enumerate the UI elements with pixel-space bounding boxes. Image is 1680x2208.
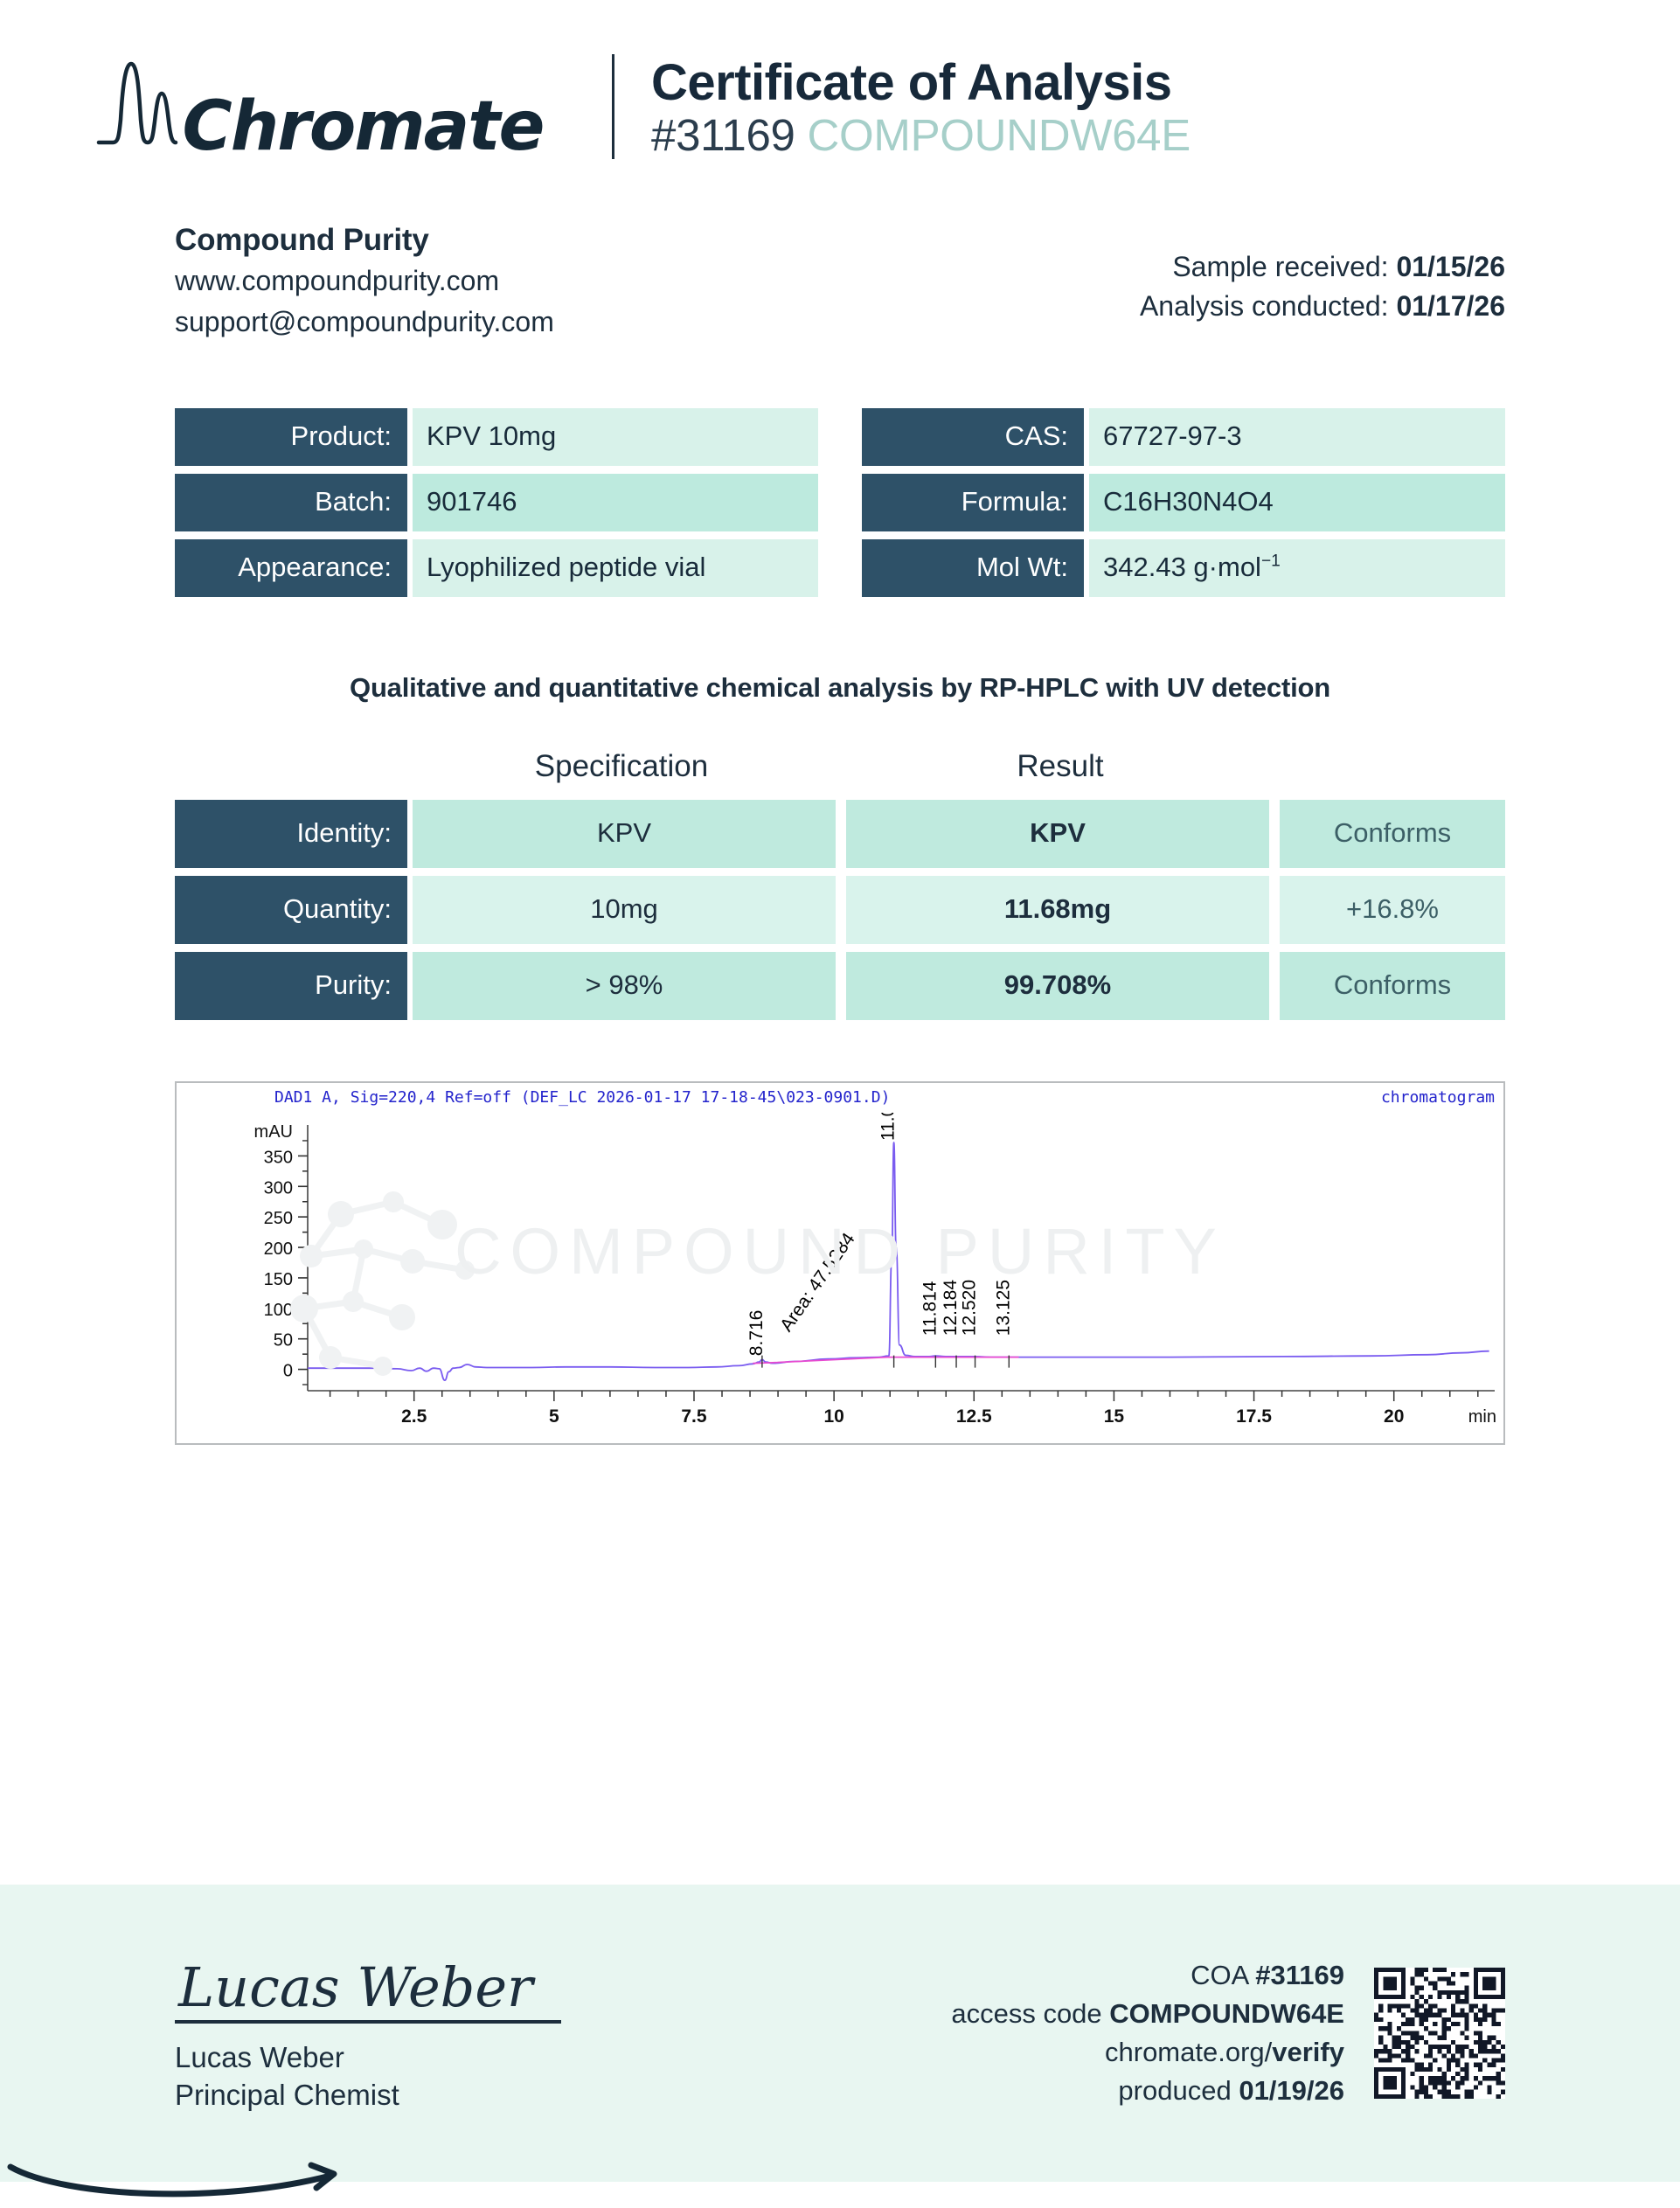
verification-block: COA #31169 access code COMPOUNDW64E chro…	[951, 1956, 1505, 2110]
info-value-formula: C16H30N4O4	[1089, 474, 1505, 531]
document-body: Chromate Certificate of Analysis #31169 …	[0, 0, 1680, 1885]
dates-block: Sample received: 01/15/26 Analysis condu…	[1140, 223, 1505, 327]
verify-path: verify	[1272, 2037, 1344, 2067]
svg-text:12.5: 12.5	[956, 1406, 992, 1427]
footer-produced-line: produced 01/19/26	[951, 2072, 1344, 2110]
qr-code[interactable]	[1374, 1968, 1505, 2099]
verify-domain: chromate.org/	[1105, 2037, 1272, 2067]
footer-access-code: COMPOUNDW64E	[1109, 1998, 1344, 2029]
svg-text:Area: 47.5284: Area: 47.5284	[776, 1229, 859, 1336]
coa-number: #31169	[651, 110, 795, 160]
chromatogram-plot: 050100150200250300350mAU2.557.51012.5151…	[177, 1113, 1505, 1443]
status-badge: Conforms	[1280, 800, 1505, 868]
svg-text:11.069: 11.069	[878, 1113, 899, 1141]
page-title: Certificate of Analysis	[651, 56, 1191, 109]
result-label-identity: Identity:	[175, 800, 407, 868]
chromatogram-panel: DAD1 A, Sig=220,4 Ref=off (DEF_LC 2026-0…	[175, 1081, 1505, 1445]
company-website[interactable]: www.compoundpurity.com	[175, 263, 554, 299]
footer-produced-date: 01/19/26	[1239, 2075, 1344, 2106]
results-table: Identity: KPV KPV Conforms Quantity: 10m…	[0, 784, 1680, 1020]
coa-page: Chromate Certificate of Analysis #31169 …	[0, 0, 1680, 2182]
svg-text:100: 100	[264, 1300, 293, 1319]
svg-text:12.184: 12.184	[941, 1279, 961, 1336]
footer-access-label: access code	[951, 1998, 1101, 2029]
result-spec-identity: KPV	[413, 800, 836, 868]
results-header-spacer	[175, 749, 407, 784]
info-value-product: KPV 10mg	[413, 408, 818, 466]
brand-logo: Chromate	[0, 55, 612, 159]
result-value-quantity: 11.68mg	[846, 876, 1269, 944]
svg-text:12.520: 12.520	[960, 1279, 980, 1335]
table-row: Quantity: 10mg 11.68mg +16.8%	[175, 876, 1505, 944]
result-label-purity: Purity:	[175, 952, 407, 1020]
signer-name: Lucas Weber	[175, 2039, 561, 2077]
svg-text:min: min	[1468, 1407, 1496, 1427]
results-column-result: Result	[846, 749, 1274, 784]
info-row-molwt: Mol Wt: 342.43 g·mol−1	[862, 539, 1505, 597]
table-row: Purity: > 98% 99.708% Conforms	[175, 952, 1505, 1020]
svg-text:200: 200	[264, 1239, 293, 1259]
footer-coa-number: #31169	[1255, 1960, 1344, 1990]
analysis-conducted-value: 01/17/26	[1396, 290, 1505, 322]
footer-produced-label: produced	[1118, 2075, 1231, 2106]
info-row-formula: Formula: C16H30N4O4	[862, 474, 1505, 531]
info-row-batch: Batch: 901746	[175, 474, 818, 531]
page-footer: Lucas Weber Lucas Weber Principal Chemis…	[0, 1885, 1680, 2182]
contact-row: Compound Purity www.compoundpurity.com s…	[0, 186, 1680, 340]
svg-text:mAU: mAU	[254, 1122, 293, 1142]
svg-text:350: 350	[264, 1148, 293, 1167]
info-label-appearance: Appearance:	[175, 539, 407, 597]
chromatogram-peak-icon	[95, 55, 179, 154]
result-spec-quantity: 10mg	[413, 876, 836, 944]
signature-block: Lucas Weber Lucas Weber Principal Chemis…	[175, 1952, 561, 2114]
chromatogram-signature: DAD1 A, Sig=220,4 Ref=off (DEF_LC 2026-0…	[274, 1088, 890, 1107]
signature-image: Lucas Weber	[175, 1961, 561, 2020]
results-column-specification: Specification	[407, 749, 836, 784]
chromatogram-tag: chromatogram	[1381, 1088, 1495, 1107]
footer-coa-label: COA	[1191, 1960, 1247, 1990]
svg-text:17.5: 17.5	[1236, 1406, 1272, 1427]
footer-coa-line: COA #31169	[951, 1956, 1344, 1995]
info-label-product: Product:	[175, 408, 407, 466]
svg-text:300: 300	[264, 1178, 293, 1198]
info-value-molwt: 342.43 g·mol−1	[1089, 539, 1505, 597]
info-label-cas: CAS:	[862, 408, 1084, 466]
molwt-number: 342.43 g·mol	[1103, 552, 1261, 582]
company-email[interactable]: support@compoundpurity.com	[175, 304, 554, 340]
svg-text:0: 0	[283, 1361, 293, 1380]
company-block: Compound Purity www.compoundpurity.com s…	[175, 223, 554, 340]
company-name: Compound Purity	[175, 223, 554, 258]
info-value-cas: 67727-97-3	[1089, 408, 1505, 466]
svg-text:10: 10	[823, 1406, 843, 1427]
svg-text:250: 250	[264, 1209, 293, 1228]
info-value-appearance: Lyophilized peptide vial	[413, 539, 818, 597]
svg-text:150: 150	[264, 1269, 293, 1288]
result-value-identity: KPV	[846, 800, 1269, 868]
sample-received-label: Sample received:	[1172, 251, 1388, 282]
footer-access-line: access code COMPOUNDW64E	[951, 1995, 1344, 2033]
sample-received-row: Sample received: 01/15/26	[1140, 247, 1505, 287]
footer-verify-line[interactable]: chromate.org/verify	[951, 2033, 1344, 2072]
status-badge: +16.8%	[1280, 876, 1505, 944]
method-statement: Qualitative and quantitative chemical an…	[0, 597, 1680, 704]
sample-received-value: 01/15/26	[1396, 251, 1505, 282]
product-info-table: Product: KPV 10mg CAS: 67727-97-3 Batch:…	[0, 340, 1680, 597]
analysis-conducted-row: Analysis conducted: 01/17/26	[1140, 287, 1505, 326]
swoosh-icon	[5, 2162, 355, 2208]
table-row: Identity: KPV KPV Conforms	[175, 800, 1505, 868]
svg-text:7.5: 7.5	[681, 1406, 707, 1427]
result-spec-purity: > 98%	[413, 952, 836, 1020]
page-header: Chromate Certificate of Analysis #31169 …	[0, 0, 1680, 186]
header-divider	[612, 54, 614, 159]
result-label-quantity: Quantity:	[175, 876, 407, 944]
info-label-formula: Formula:	[862, 474, 1084, 531]
status-badge: Conforms	[1280, 952, 1505, 1020]
info-row-appearance: Appearance: Lyophilized peptide vial	[175, 539, 818, 597]
header-title-block: Certificate of Analysis #31169 COMPOUNDW…	[651, 52, 1191, 162]
info-label-molwt: Mol Wt:	[862, 539, 1084, 597]
result-value-purity: 99.708%	[846, 952, 1269, 1020]
info-value-batch: 901746	[413, 474, 818, 531]
molwt-exponent: −1	[1261, 552, 1281, 570]
svg-text:20: 20	[1384, 1406, 1404, 1427]
info-label-batch: Batch:	[175, 474, 407, 531]
brand-name: Chromate	[183, 96, 544, 159]
svg-text:8.716: 8.716	[746, 1309, 767, 1356]
signature-rule	[175, 2020, 561, 2024]
analysis-conducted-label: Analysis conducted:	[1140, 290, 1389, 322]
access-code: COMPOUNDW64E	[807, 110, 1190, 160]
svg-text:15: 15	[1104, 1406, 1125, 1427]
svg-text:2.5: 2.5	[401, 1406, 427, 1427]
info-row-product: Product: KPV 10mg	[175, 408, 818, 466]
svg-text:50: 50	[274, 1330, 293, 1350]
svg-text:13.125: 13.125	[993, 1279, 1013, 1335]
svg-text:5: 5	[549, 1406, 559, 1427]
svg-text:11.814: 11.814	[920, 1281, 940, 1336]
signer-title: Principal Chemist	[175, 2077, 561, 2114]
results-header-row: Specification Result	[0, 704, 1680, 784]
info-row-cas: CAS: 67727-97-3	[862, 408, 1505, 466]
coa-id-line: #31169 COMPOUNDW64E	[651, 109, 1191, 161]
